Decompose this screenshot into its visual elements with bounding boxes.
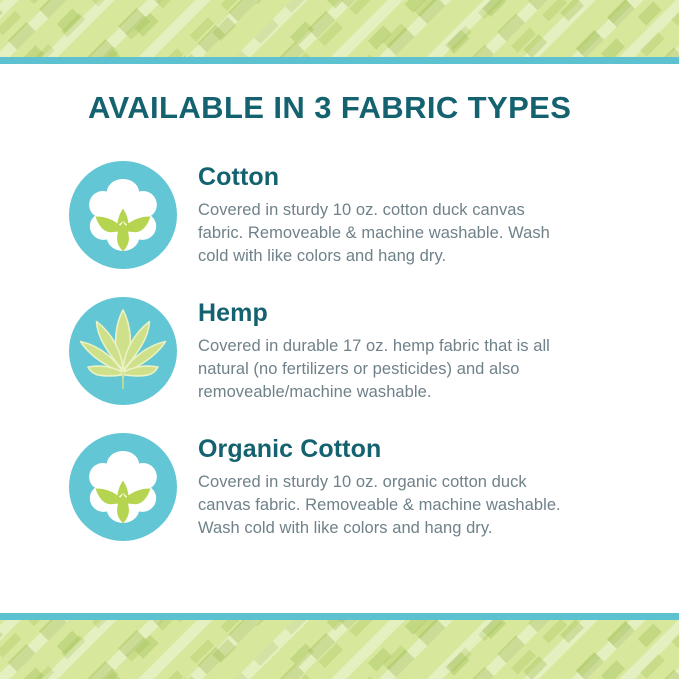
list-item-text: Organic Cotton Covered in sturdy 10 oz. … bbox=[198, 430, 573, 540]
list-item-text: Cotton Covered in sturdy 10 oz. cotton d… bbox=[198, 158, 573, 268]
page-title: AVAILABLE IN 3 FABRIC TYPES bbox=[88, 90, 571, 126]
content-area: AVAILABLE IN 3 FABRIC TYPES bbox=[0, 64, 679, 613]
list-item: Hemp Covered in durable 17 oz. hemp fabr… bbox=[0, 294, 679, 408]
bottom-decorative-band bbox=[0, 620, 679, 679]
list-item: Cotton Covered in sturdy 10 oz. cotton d… bbox=[0, 158, 679, 272]
cotton-boll-icon bbox=[66, 430, 180, 544]
list-item: Organic Cotton Covered in sturdy 10 oz. … bbox=[0, 430, 679, 544]
list-item-description: Covered in sturdy 10 oz. cotton duck can… bbox=[198, 199, 573, 268]
list-item-description: Covered in sturdy 10 oz. organic cotton … bbox=[198, 471, 573, 540]
diagonal-dash-pattern-secondary bbox=[0, 620, 679, 679]
fabric-type-list: Cotton Covered in sturdy 10 oz. cotton d… bbox=[0, 158, 679, 544]
cotton-boll-icon bbox=[66, 158, 180, 272]
list-item-title: Cotton bbox=[198, 164, 573, 191]
top-teal-rule bbox=[0, 57, 679, 64]
list-item-title: Hemp bbox=[198, 300, 573, 327]
infographic-page: AVAILABLE IN 3 FABRIC TYPES bbox=[0, 0, 679, 679]
list-item-title: Organic Cotton bbox=[198, 436, 573, 463]
hemp-leaf-icon bbox=[66, 294, 180, 408]
top-decorative-band bbox=[0, 0, 679, 57]
list-item-text: Hemp Covered in durable 17 oz. hemp fabr… bbox=[198, 294, 573, 404]
bottom-teal-rule bbox=[0, 613, 679, 620]
list-item-description: Covered in durable 17 oz. hemp fabric th… bbox=[198, 335, 573, 404]
diagonal-dash-pattern-secondary bbox=[0, 0, 679, 57]
